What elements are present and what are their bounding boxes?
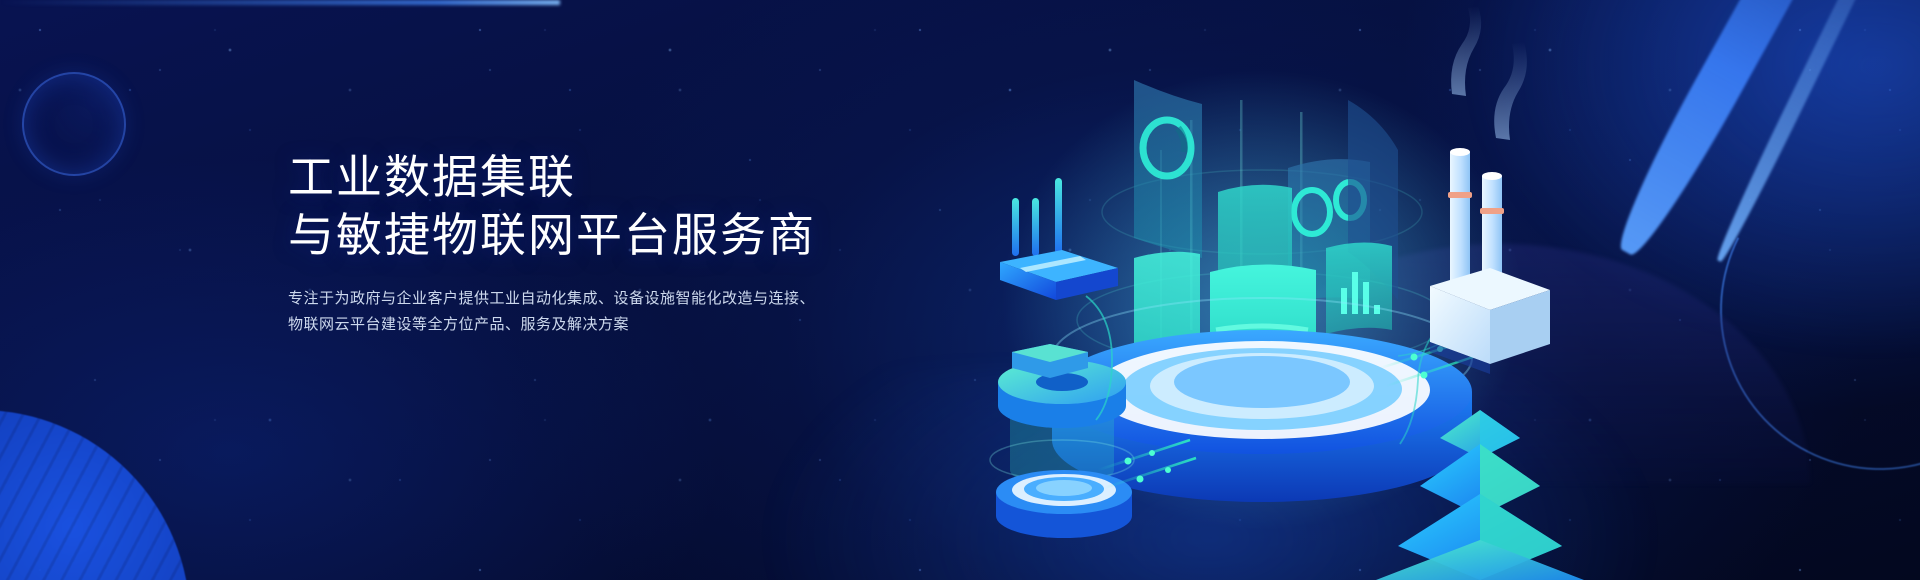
hero-banner: 工业数据集联 与敏捷物联网平台服务商 专注于为政府与企业客户提供工业自动化集成、…	[0, 0, 1920, 580]
ring-glyph-3	[1336, 182, 1364, 218]
router-top	[1000, 250, 1118, 282]
router-side-right	[1056, 268, 1118, 300]
crescent-moon-icon	[22, 72, 126, 176]
page-title-line1: 工业数据集联	[288, 148, 908, 206]
donut-slice-top	[1012, 344, 1088, 362]
ring-glyph-2	[1294, 190, 1330, 234]
page-title-line2: 与敏捷物联网平台服务商	[288, 206, 908, 264]
ring-glyph-1-shadow	[1178, 128, 1184, 152]
city-pillar-4	[1160, 150, 1162, 340]
router-antenna-1	[1012, 198, 1019, 256]
hero-subtitle-line1: 专注于为政府与企业客户提供工业自动化集成、设备设施智能化改造与连接、	[288, 286, 908, 312]
orbit-ring-top	[1102, 170, 1422, 254]
router-led-strip	[1020, 256, 1086, 272]
router-side-left	[1000, 262, 1056, 300]
city-panel-front-left	[1134, 252, 1200, 384]
city-pillar-1	[1190, 120, 1193, 330]
router-antenna-3	[1055, 178, 1062, 254]
light-ray-horizon	[0, 0, 560, 5]
ring-glyph-1	[1143, 120, 1191, 176]
city-panel-back-left	[1134, 80, 1202, 258]
hero-subtitle-line2: 物联网云平台建设等全方位产品、服务及解决方案	[288, 312, 908, 338]
hero-copy: 工业数据集联 与敏捷物联网平台服务商 专注于为政府与企业客户提供工业自动化集成、…	[288, 148, 908, 338]
planet-arc-icon	[0, 410, 190, 580]
city-pillar-2	[1240, 100, 1243, 330]
router-antenna-2	[1032, 198, 1039, 256]
city-panel-mid	[1218, 185, 1292, 332]
router-device	[1000, 178, 1118, 300]
